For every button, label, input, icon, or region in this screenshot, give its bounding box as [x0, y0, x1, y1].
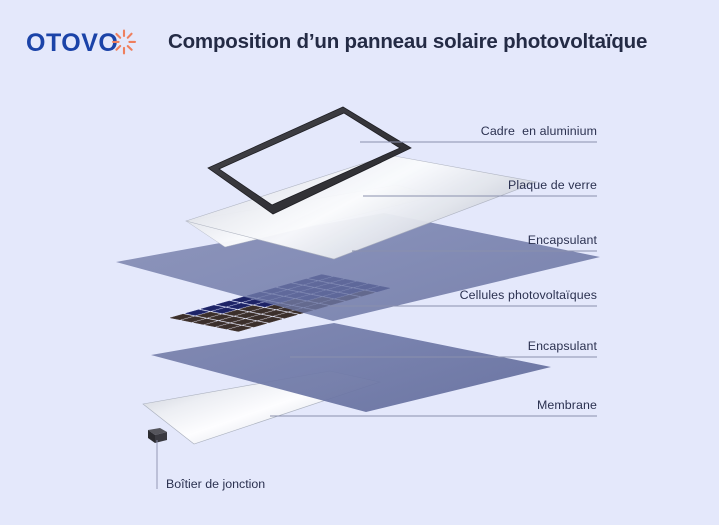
label-cellules-photovoltaiques: Cellules photovoltaïques — [460, 288, 597, 302]
label-encapsulant-top: Encapsulant — [528, 233, 597, 247]
label-plaque-de-verre: Plaque de verre — [508, 178, 597, 192]
junction-box — [148, 428, 167, 443]
exploded-panel-diagram — [0, 0, 719, 525]
infographic-root: OTOVO Composition d’un panneau s — [0, 0, 719, 525]
label-membrane: Membrane — [537, 398, 597, 412]
label-boitier-de-jonction: Boîtier de jonction — [166, 477, 265, 491]
label-encapsulant-bottom: Encapsulant — [528, 339, 597, 353]
label-cadre-en-aluminium: Cadre en aluminium — [481, 124, 597, 138]
